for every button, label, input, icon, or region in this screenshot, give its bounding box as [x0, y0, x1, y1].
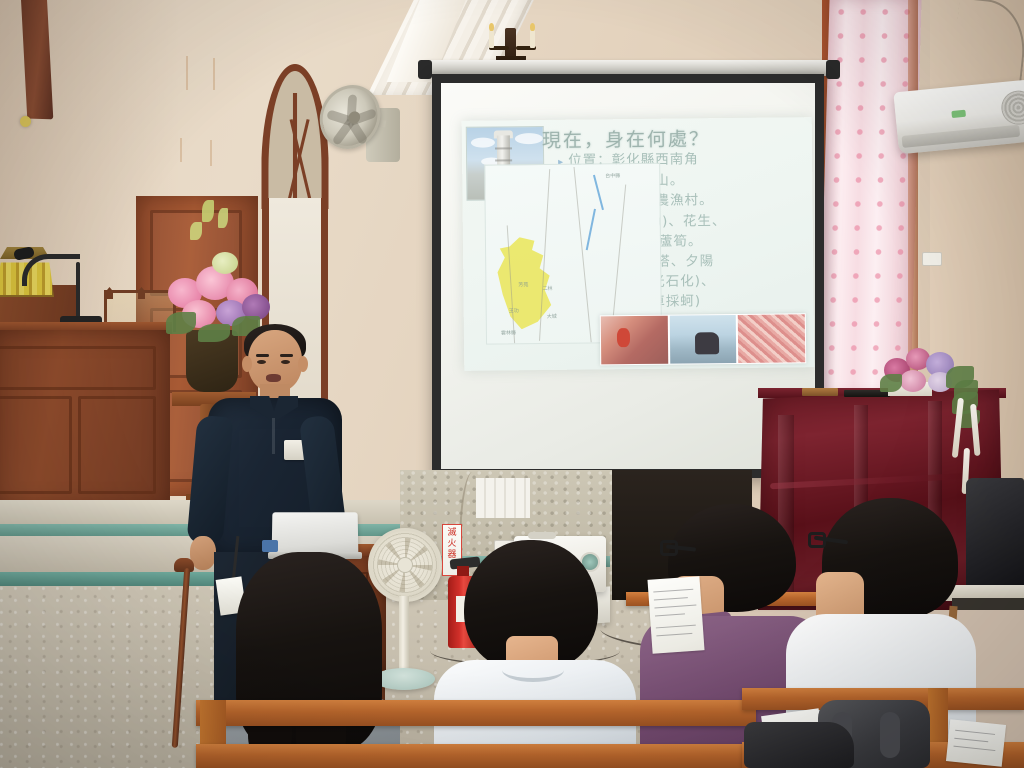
presenter-eye	[257, 360, 266, 364]
glasses-lens	[660, 540, 678, 556]
paper-line	[656, 633, 692, 637]
ac-side-grille	[1000, 89, 1024, 126]
glasses-lens	[808, 532, 826, 548]
sconce-candle	[530, 30, 535, 48]
paper-line	[954, 738, 988, 743]
wall-mark	[186, 56, 188, 90]
paper-line	[653, 589, 693, 593]
window-frame-edge	[908, 0, 918, 396]
microphone-gooseneck	[22, 254, 80, 286]
slide-photo-ox-in-water	[669, 315, 736, 364]
roller-end-cap	[418, 60, 432, 79]
white-wall-strip	[476, 478, 530, 518]
presenter-ear	[242, 356, 252, 372]
roller-end-cap	[826, 60, 840, 79]
photo-scene: 現在，身在何處？ 位置：彰化縣西南角 芳苑、又名沙山。 特色：沙地、農漁村。 名…	[0, 0, 1024, 768]
front-pew-backrest[interactable]	[196, 700, 756, 726]
presenter-placket	[272, 418, 275, 454]
sconce-flame-icon	[489, 23, 494, 31]
audience-member-bob-hair	[440, 540, 630, 768]
shirt-collar	[502, 658, 564, 682]
presenter-brow	[256, 354, 269, 357]
presenter-brow	[280, 354, 293, 357]
projected-slide: 現在，身在何處？ 位置：彰化縣西南角 芳苑、又名沙山。 特色：沙地、農漁村。 名…	[462, 117, 815, 371]
projector-handle	[528, 532, 556, 539]
paper-line	[656, 625, 696, 629]
presenter-eye	[281, 360, 290, 364]
book-on-piano[interactable]	[802, 388, 838, 396]
tower-band	[495, 147, 512, 149]
paper-on-pew[interactable]	[946, 719, 1006, 767]
flower-pink	[900, 370, 926, 392]
flower-stem	[190, 222, 202, 240]
flower-leaf	[880, 374, 902, 392]
flower-white	[212, 252, 238, 274]
slide-photo-strip	[600, 313, 807, 365]
flower-stem	[218, 208, 228, 228]
map-label: 大城	[547, 313, 557, 320]
backpack-strap	[880, 712, 900, 758]
map-label: 芳苑	[518, 281, 528, 288]
paper-line	[654, 597, 688, 600]
fan-pole	[399, 596, 409, 676]
ac-brand-logo	[951, 110, 966, 118]
presenter-ear	[298, 356, 308, 372]
cloud	[515, 133, 543, 144]
handout-paper[interactable]	[647, 576, 704, 653]
pulpit-panel	[0, 346, 156, 390]
dark-bag[interactable]	[744, 722, 854, 768]
wall-light-dot	[20, 116, 31, 127]
wall-outlet[interactable]	[922, 252, 942, 266]
paper-line	[655, 613, 685, 616]
map-label: 台中縣	[605, 172, 620, 179]
photo-ox	[695, 332, 719, 354]
paper-line	[953, 746, 995, 751]
screen-surface: 現在，身在何處？ 位置：彰化縣西南角 芳苑、又名沙山。 特色：沙地、農漁村。 名…	[441, 83, 815, 469]
wall-mark	[210, 140, 212, 166]
flower-stem	[202, 200, 214, 222]
slide-photo-oysters	[738, 314, 805, 363]
piano-flower-bouquet	[880, 344, 980, 398]
sconce-flame-icon	[530, 23, 535, 31]
tower-band	[495, 159, 512, 161]
wall-mark	[180, 138, 182, 162]
map-label: 雲林縣	[501, 329, 516, 336]
wall-mark	[213, 58, 215, 90]
cloud	[471, 137, 495, 147]
photo-figure	[617, 328, 631, 347]
map-label: 二林	[542, 285, 552, 292]
air-conditioner-unit[interactable]	[893, 80, 1024, 155]
slide-photo-oxcart	[601, 316, 668, 365]
paper-line	[955, 730, 995, 735]
laptop[interactable]	[272, 512, 359, 556]
slide-title: 現在，身在何處？	[542, 124, 710, 153]
map-river	[593, 175, 604, 210]
map-boundary	[574, 167, 592, 342]
map-river	[586, 209, 596, 251]
paper-line	[654, 605, 696, 609]
pulpit-flower-arrangement	[160, 200, 280, 340]
front-pew-lower-rail	[196, 744, 756, 768]
ac-power-wire	[950, 0, 1024, 93]
microphone-stem	[76, 262, 80, 320]
map-label: 王功	[509, 307, 519, 314]
presenter-mouth	[266, 374, 281, 382]
sconce-candle	[489, 30, 494, 48]
audience-member-long-hair	[218, 552, 398, 768]
wooden-pulpit[interactable]	[0, 330, 170, 510]
pulpit-panel	[0, 396, 72, 494]
pulpit-panel	[78, 396, 156, 494]
map-boundary	[611, 184, 626, 333]
